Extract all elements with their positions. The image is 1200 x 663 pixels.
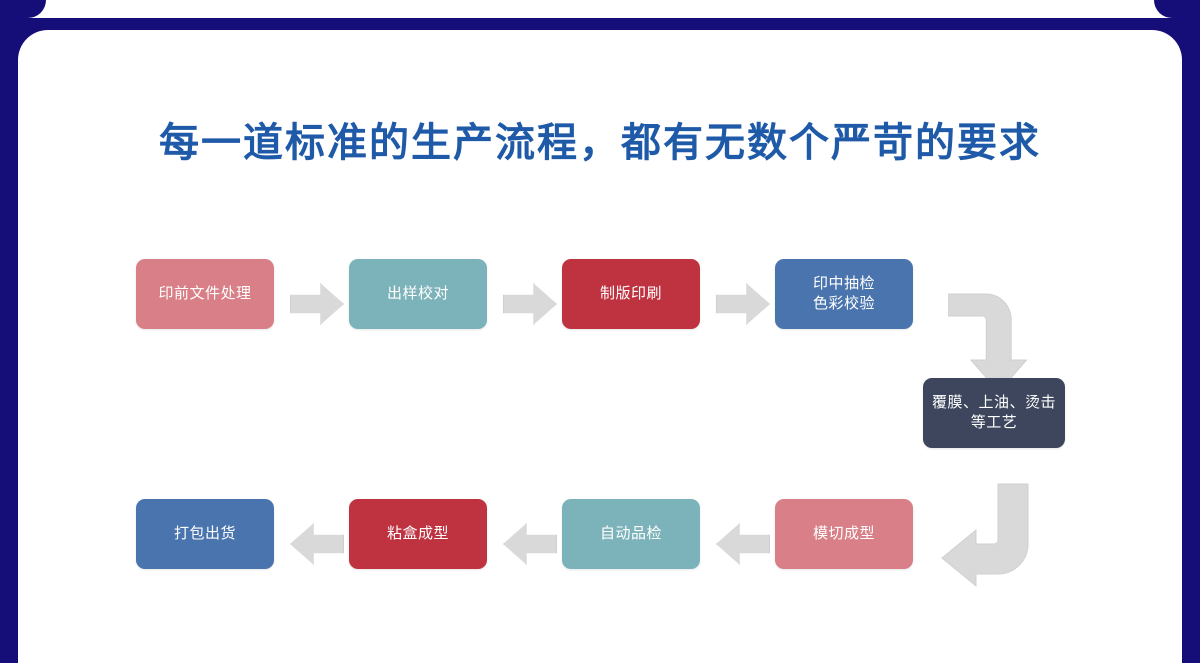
flow-node-packing-shipping-label: 打包出货 — [174, 524, 236, 544]
flow-node-diecutting[interactable]: 模切成型 — [775, 499, 913, 569]
flow-node-platemaking[interactable]: 制版印刷 — [562, 259, 700, 329]
flow-node-proof-label: 出样校对 — [387, 284, 449, 304]
flow-node-proof[interactable]: 出样校对 — [349, 259, 487, 329]
slide-canvas: 每一道标准的生产流程，都有无数个严苛的要求 印前文件处理 出样校对 制版印刷 印… — [0, 0, 1200, 663]
flow-node-box-gluing-label: 粘盒成型 — [387, 524, 449, 544]
flow-node-auto-qc-label: 自动品检 — [600, 524, 662, 544]
flow-node-prepress[interactable]: 印前文件处理 — [136, 259, 274, 329]
flow-node-inline-inspection-label: 印中抽检 色彩校验 — [813, 274, 875, 315]
connector-bent-down-left — [938, 482, 1034, 588]
flow-node-auto-qc[interactable]: 自动品检 — [562, 499, 700, 569]
top-white-strip — [0, 0, 1200, 18]
connector-arrow-3 — [716, 283, 770, 325]
top-strip-cap-left — [0, 0, 46, 18]
flow-node-inline-inspection[interactable]: 印中抽检 色彩校验 — [775, 259, 913, 329]
flow-node-platemaking-label: 制版印刷 — [600, 284, 662, 304]
connector-arrow-1 — [290, 283, 344, 325]
connector-arrow-6 — [290, 523, 344, 565]
connector-arrow-2 — [503, 283, 557, 325]
top-strip-cap-right — [1154, 0, 1200, 18]
connector-arrow-4 — [716, 523, 770, 565]
flow-node-finishing[interactable]: 覆膜、上油、烫击 等工艺 — [923, 378, 1065, 448]
process-flow-diagram: 印前文件处理 出样校对 制版印刷 印中抽检 色彩校验 — [18, 30, 1182, 663]
flow-node-diecutting-label: 模切成型 — [813, 524, 875, 544]
flow-node-box-gluing[interactable]: 粘盒成型 — [349, 499, 487, 569]
flow-node-packing-shipping[interactable]: 打包出货 — [136, 499, 274, 569]
flow-node-finishing-label: 覆膜、上油、烫击 等工艺 — [932, 393, 1056, 434]
connector-arrow-5 — [503, 523, 557, 565]
content-card: 每一道标准的生产流程，都有无数个严苛的要求 印前文件处理 出样校对 制版印刷 印… — [18, 30, 1182, 663]
flow-node-prepress-label: 印前文件处理 — [158, 284, 251, 304]
